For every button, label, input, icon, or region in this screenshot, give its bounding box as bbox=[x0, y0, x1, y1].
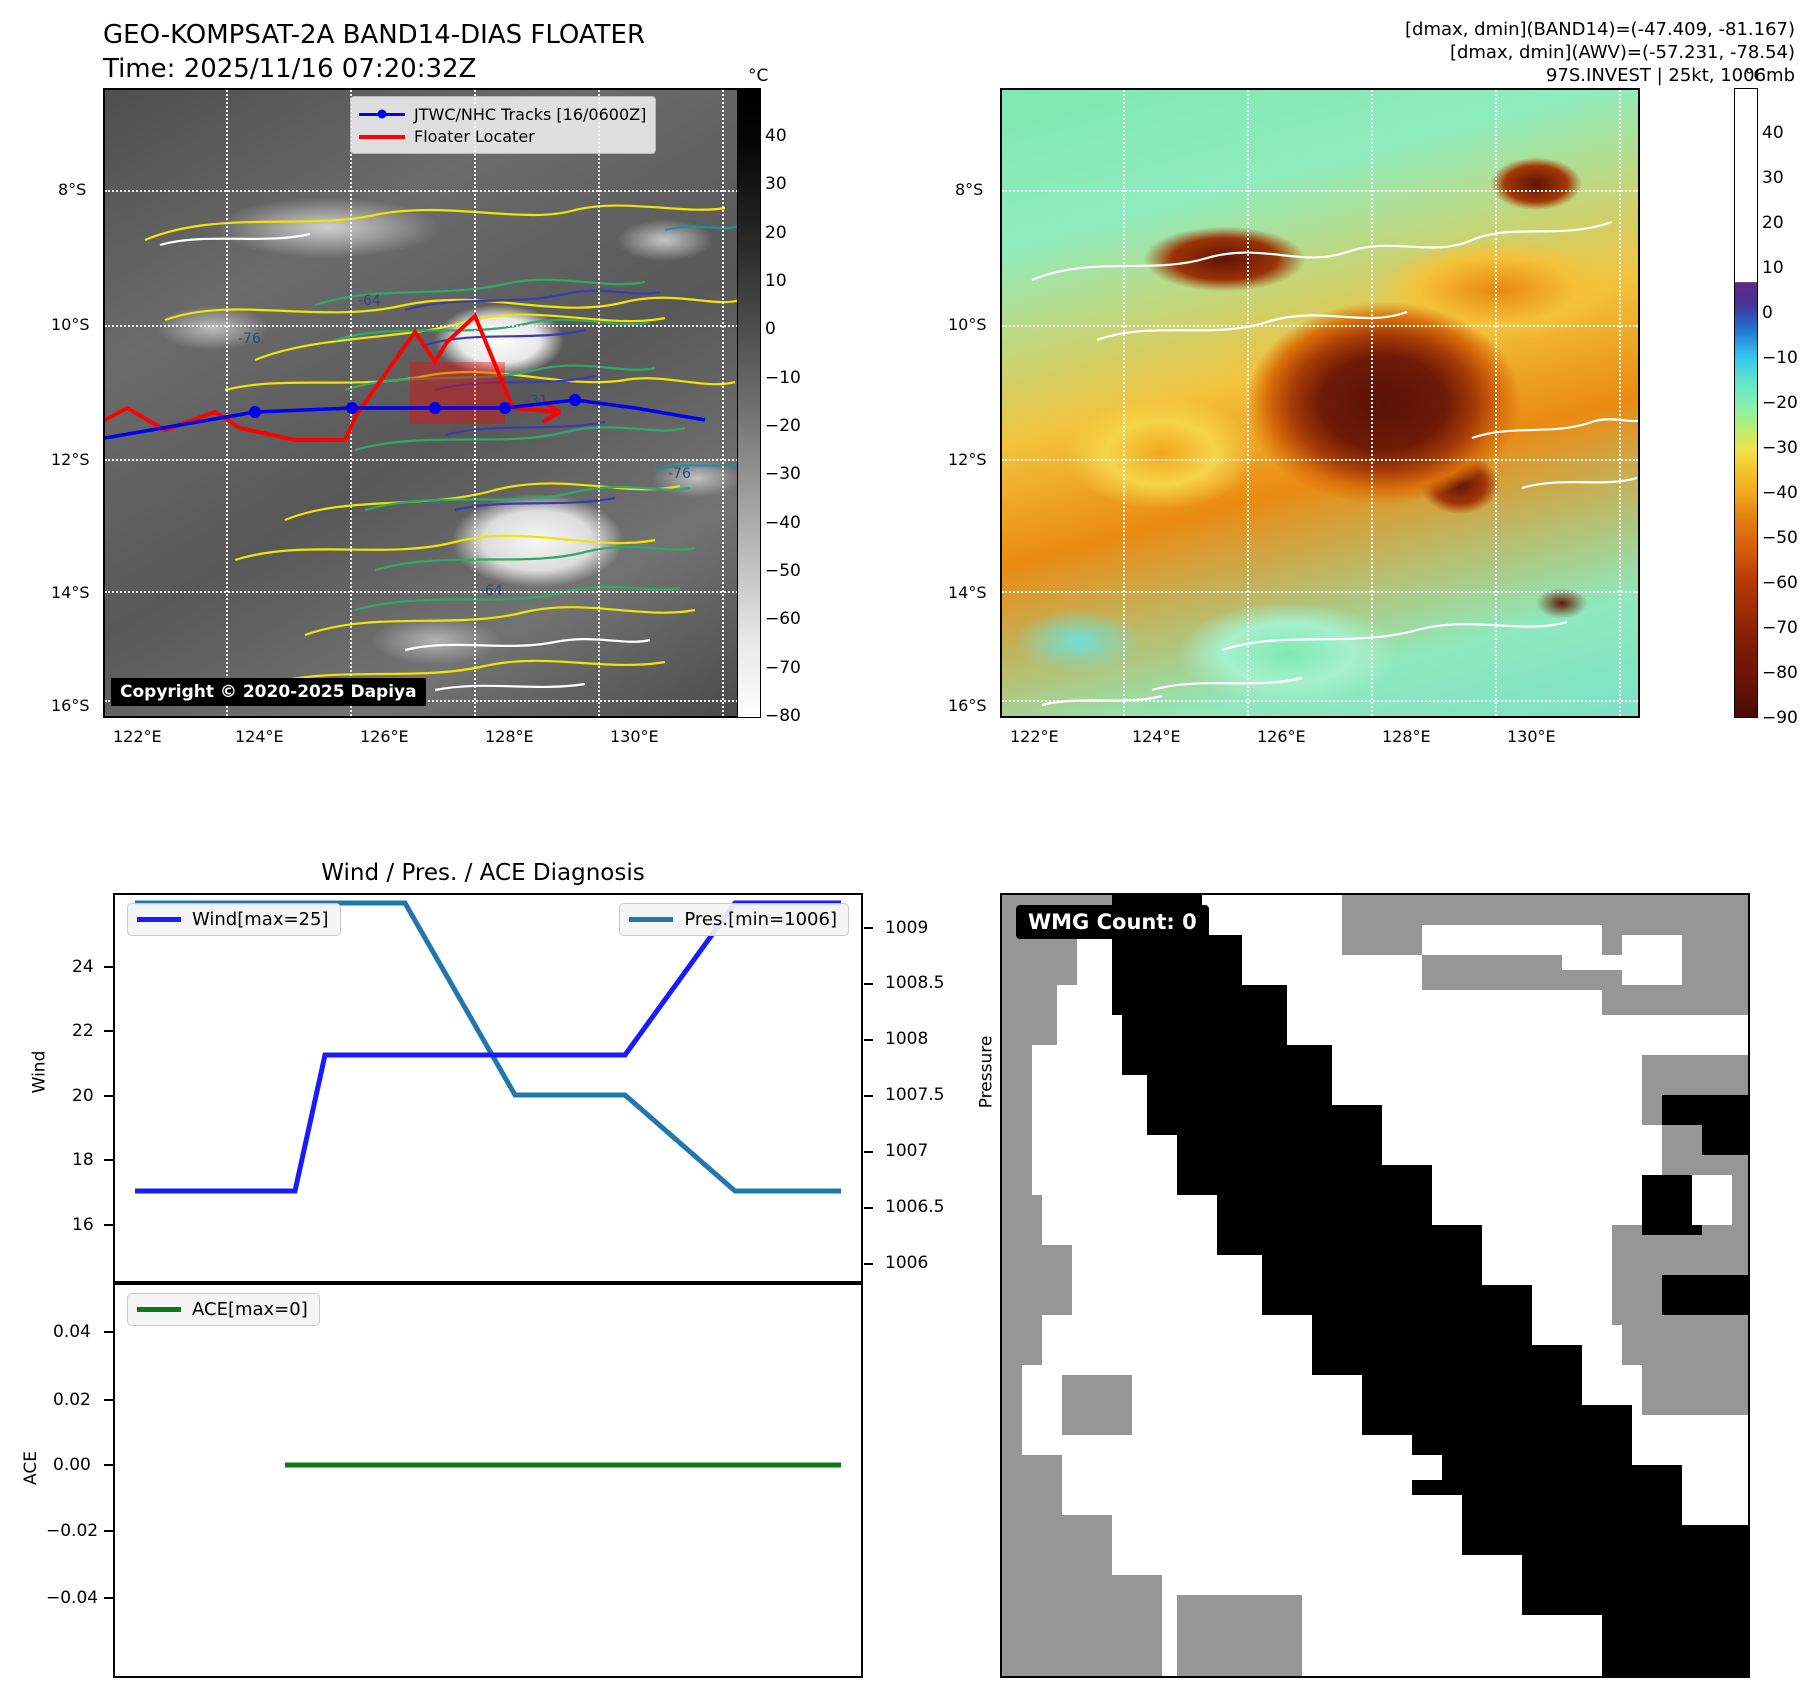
ace-axis-label: ACE bbox=[21, 1451, 41, 1485]
awv-lat-tick-14s: 14°S bbox=[948, 583, 987, 602]
product-title: GEO-KOMPSAT-2A BAND14-DIAS FLOATER bbox=[103, 18, 863, 52]
graticule-line bbox=[1123, 90, 1125, 716]
wind-tickmark bbox=[104, 1224, 113, 1226]
ace-ytick-000: 0.00 bbox=[53, 1455, 91, 1475]
ace-ytick-neg004: −0.04 bbox=[46, 1588, 98, 1608]
graticule-line bbox=[1495, 90, 1497, 716]
copyright-notice: Copyright © 2020-2025 Dapiya bbox=[111, 678, 426, 706]
legend-label-tracks: JTWC/NHC Tracks [16/0600Z] bbox=[414, 105, 646, 124]
ir-lon-tick-130e: 130°E bbox=[610, 727, 659, 746]
wind-tickmark bbox=[104, 966, 113, 968]
wind-ytick-16: 16 bbox=[72, 1215, 94, 1235]
metadata-block: [dmax, dmin](BAND14)=(-47.409, -81.167) … bbox=[1405, 18, 1795, 87]
graticule-line bbox=[1247, 90, 1249, 716]
ir-lon-tick-126e: 126°E bbox=[360, 727, 409, 746]
legend-label-floater: Floater Locater bbox=[414, 127, 535, 146]
graticule-line bbox=[1371, 90, 1373, 716]
pressure-legend-swatch bbox=[629, 917, 673, 922]
pressure-line bbox=[135, 903, 841, 1191]
ace-legend-label: ACE[max=0] bbox=[192, 1299, 308, 1320]
graticule-line bbox=[1002, 325, 1638, 327]
pressure-tickmark bbox=[864, 1095, 873, 1097]
pressure-ytick-10065: 1006.5 bbox=[885, 1197, 944, 1217]
graticule-line bbox=[1002, 190, 1638, 192]
ace-tickmark bbox=[104, 1530, 113, 1532]
wind-legend-swatch bbox=[137, 917, 181, 922]
ir-lon-tick-128e: 128°E bbox=[485, 727, 534, 746]
ir-colorbar-ticks: 40 30 20 10 0 −10 −20 −30 −40 −50 −60 −7… bbox=[737, 88, 857, 718]
ace-ytick-004: 0.04 bbox=[53, 1322, 91, 1342]
wind-legend-label: Wind[max=25] bbox=[192, 909, 329, 930]
ir-colorbar-unit: °C bbox=[748, 66, 768, 86]
ir-lat-tick-12s: 12°S bbox=[51, 450, 90, 469]
pressure-tickmark bbox=[864, 927, 873, 929]
storm-track-overlay bbox=[105, 90, 743, 718]
meta-storm-summary: 97S.INVEST | 25kt, 1006mb bbox=[1405, 64, 1795, 87]
pressure-legend-label: Pres.[min=1006] bbox=[684, 909, 837, 930]
awv-lon-tick-126e: 126°E bbox=[1257, 727, 1306, 746]
ir-lat-tick-16s: 16°S bbox=[51, 696, 90, 715]
wind-axis-label: Wind bbox=[29, 1051, 49, 1094]
graticule-line bbox=[1002, 459, 1638, 461]
ir-lon-tick-122e: 122°E bbox=[113, 727, 162, 746]
awv-lat-tick-8s: 8°S bbox=[955, 180, 983, 199]
pressure-tickmark bbox=[864, 1263, 873, 1265]
ace-ytick-002: 0.02 bbox=[53, 1390, 91, 1410]
track-line-icon bbox=[359, 106, 405, 122]
floater-line-icon bbox=[359, 128, 405, 144]
wind-ytick-24: 24 bbox=[72, 957, 94, 977]
awv-lat-tick-10s: 10°S bbox=[948, 315, 987, 334]
awv-colorbar-unit: °C bbox=[1745, 66, 1765, 86]
pressure-ytick-10075: 1007.5 bbox=[885, 1085, 944, 1105]
wind-ytick-22: 22 bbox=[72, 1021, 94, 1041]
pressure-ytick-1007: 1007 bbox=[885, 1141, 928, 1161]
ir-lat-tick-10s: 10°S bbox=[51, 315, 90, 334]
graticule-line bbox=[1002, 700, 1638, 702]
awv-colorbar-ticks: 40 30 20 10 0 −10 −20 −30 −40 −50 −60 −7… bbox=[1734, 88, 1813, 748]
legend-item-tracks: JTWC/NHC Tracks [16/0600Z] bbox=[359, 103, 646, 125]
ir-map-legend: JTWC/NHC Tracks [16/0600Z] Floater Locat… bbox=[350, 96, 656, 154]
wind-pressure-plot bbox=[115, 895, 861, 1281]
ace-tickmark bbox=[104, 1331, 113, 1333]
wmg-count-badge: WMG Count: 0 bbox=[1016, 905, 1209, 939]
awv-lat-tick-16s: 16°S bbox=[948, 696, 987, 715]
ace-ytick-neg002: −0.02 bbox=[46, 1521, 98, 1541]
ace-chart[interactable]: ACE[max=0] bbox=[113, 1283, 863, 1678]
wind-ytick-18: 18 bbox=[72, 1150, 94, 1170]
ace-legend-swatch bbox=[137, 1307, 181, 1312]
wind-tickmark bbox=[104, 1159, 113, 1161]
pressure-tickmark bbox=[864, 1151, 873, 1153]
pressure-ytick-1009: 1009 bbox=[885, 918, 928, 938]
pressure-ytick-10085: 1008.5 bbox=[885, 973, 944, 993]
wind-legend: Wind[max=25] bbox=[127, 903, 341, 936]
pressure-tickmark bbox=[864, 1039, 873, 1041]
graticule-line bbox=[1002, 591, 1638, 593]
pressure-ytick-1006: 1006 bbox=[885, 1253, 928, 1273]
ace-tickmark bbox=[104, 1464, 113, 1466]
ace-tickmark bbox=[104, 1399, 113, 1401]
pressure-ytick-1008: 1008 bbox=[885, 1029, 928, 1049]
awv-lon-tick-128e: 128°E bbox=[1382, 727, 1431, 746]
awv-coastline-overlay bbox=[1002, 90, 1640, 718]
wind-pressure-chart[interactable]: Wind[max=25] Pres.[min=1006] bbox=[113, 893, 863, 1283]
pressure-legend: Pres.[min=1006] bbox=[619, 903, 849, 936]
floater-box bbox=[410, 362, 505, 424]
awv-lon-tick-124e: 124°E bbox=[1132, 727, 1181, 746]
ir-lon-tick-124e: 124°E bbox=[235, 727, 284, 746]
wind-ytick-20: 20 bbox=[72, 1086, 94, 1106]
awv-satellite-map[interactable] bbox=[1000, 88, 1640, 718]
wind-chart-title: Wind / Pres. / ACE Diagnosis bbox=[103, 860, 863, 886]
awv-lon-tick-130e: 130°E bbox=[1507, 727, 1556, 746]
graticule-line bbox=[1619, 90, 1621, 716]
ir-lat-tick-8s: 8°S bbox=[58, 180, 86, 199]
ace-legend: ACE[max=0] bbox=[127, 1293, 320, 1326]
wmg-cloud-classification-map[interactable]: WMG Count: 0 bbox=[1000, 893, 1750, 1678]
awv-lon-tick-122e: 122°E bbox=[1010, 727, 1059, 746]
ir-lat-tick-14s: 14°S bbox=[51, 583, 90, 602]
meta-band14-range: [dmax, dmin](BAND14)=(-47.409, -81.167) bbox=[1405, 18, 1795, 41]
pressure-tickmark bbox=[864, 1207, 873, 1209]
ir-satellite-map[interactable]: -76 -64 -76 -64 -31 bbox=[103, 88, 743, 718]
legend-item-floater: Floater Locater bbox=[359, 125, 646, 147]
pressure-tickmark bbox=[864, 983, 873, 985]
ace-tickmark bbox=[104, 1597, 113, 1599]
wind-tickmark bbox=[104, 1095, 113, 1097]
meta-awv-range: [dmax, dmin](AWV)=(-57.231, -78.54) bbox=[1405, 41, 1795, 64]
pressure-axis-label: Pressure bbox=[976, 1036, 996, 1109]
wmg-raster bbox=[1002, 895, 1748, 1676]
ace-plot bbox=[115, 1285, 861, 1676]
wind-tickmark bbox=[104, 1030, 113, 1032]
awv-lat-tick-12s: 12°S bbox=[948, 450, 987, 469]
